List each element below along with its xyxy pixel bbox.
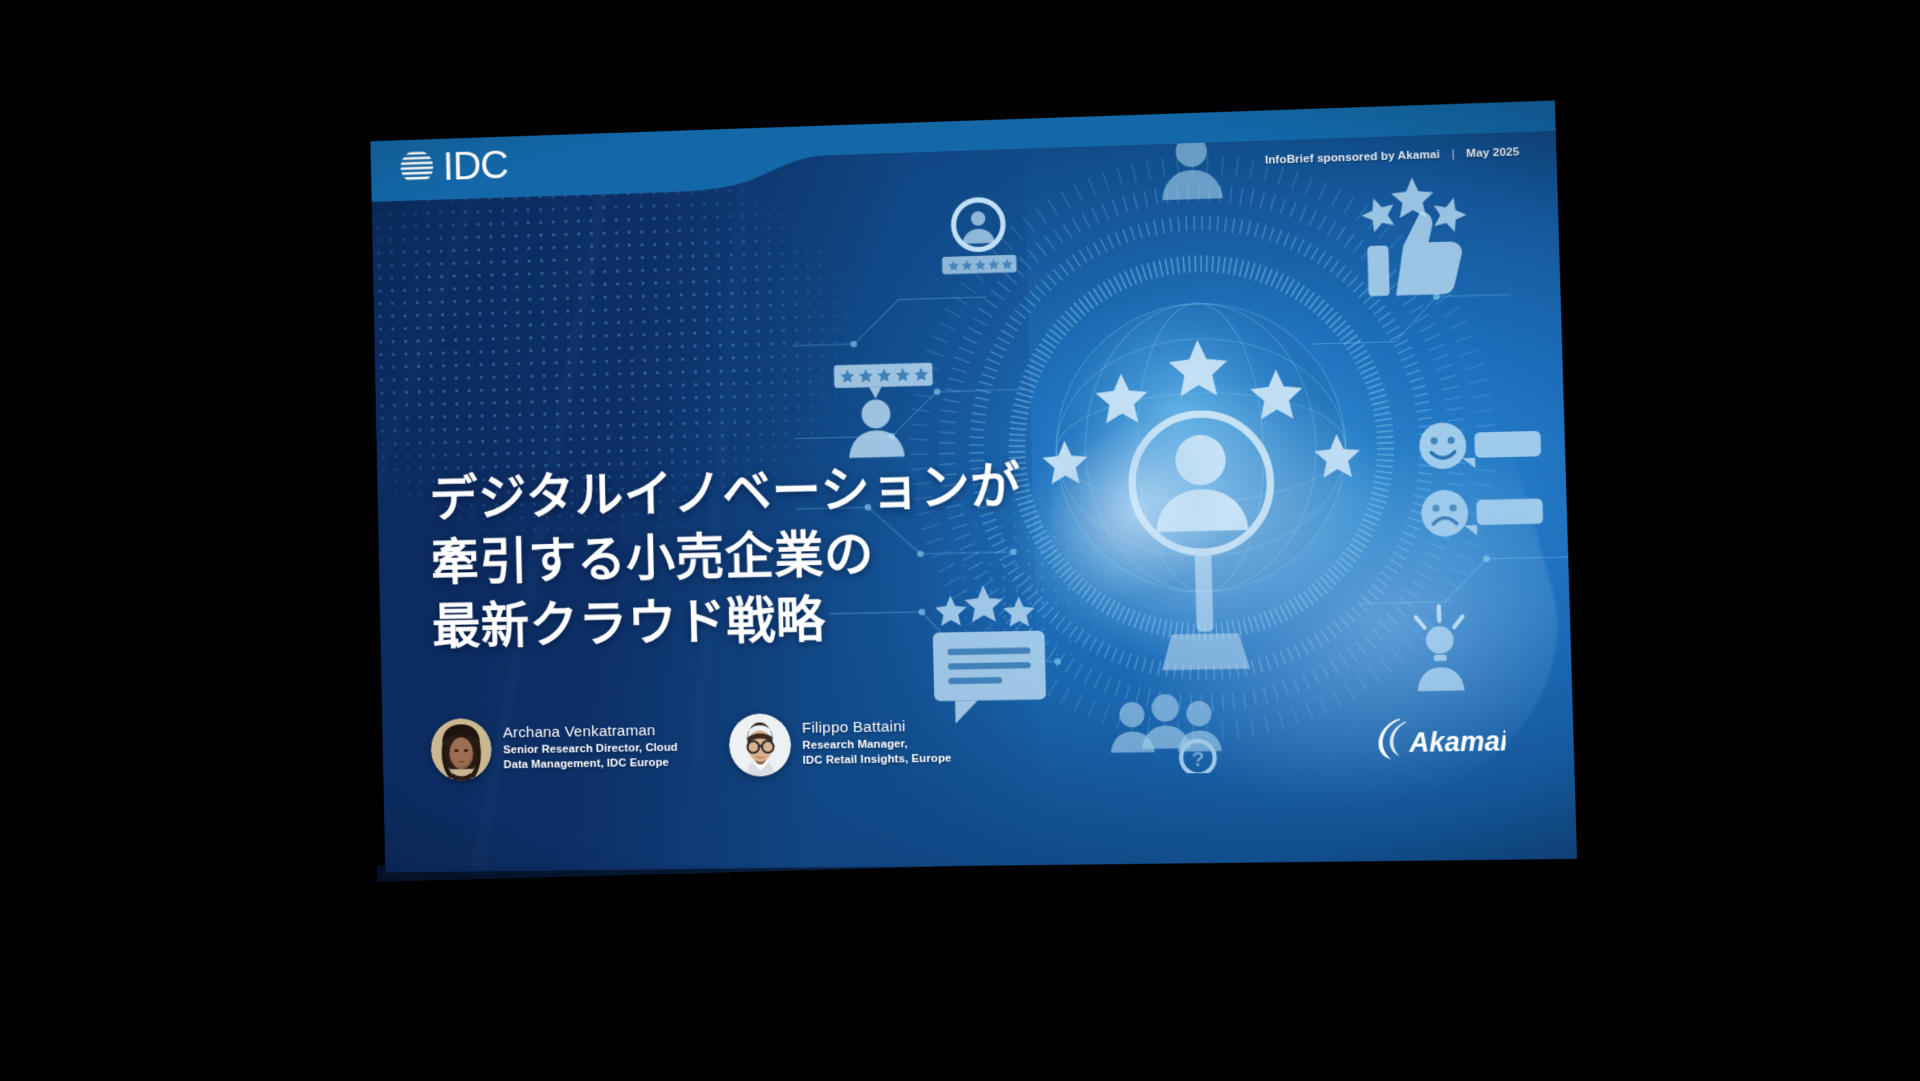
title-line-3: 最新クラウド戦略 <box>432 582 1091 659</box>
sponsor-separator: | <box>1451 148 1455 160</box>
author-text: Archana Venkatraman Senior Research Dire… <box>503 721 679 773</box>
author-text: Filippo Battaini Research Manager, IDC R… <box>802 717 952 769</box>
author-entry: Filippo Battaini Research Manager, IDC R… <box>728 710 952 776</box>
akamai-logo: Akamai <box>1377 713 1506 762</box>
sponsor-line: InfoBrief sponsored by Akamai | May 2025 <box>1265 146 1520 166</box>
title-line-2: 牽引する小売企業の <box>430 517 1089 596</box>
author-role-line-2: Data Management, IDC Europe <box>503 756 678 774</box>
author-name: Filippo Battaini <box>802 717 951 739</box>
avatar <box>728 713 791 777</box>
publication-date: May 2025 <box>1466 146 1520 160</box>
screenshot-stage: ? (function(){ // radiating tick rings, … <box>0 0 1920 1081</box>
author-list: Archana Venkatraman Senior Research Dire… <box>430 710 952 781</box>
sponsor-text: InfoBrief sponsored by Akamai <box>1265 149 1440 167</box>
page-surface: ? (function(){ // radiating tick rings, … <box>370 100 1577 872</box>
svg-text:?: ? <box>1191 748 1204 771</box>
author-role-line-1: Research Manager, <box>802 736 951 754</box>
document-page[interactable]: ? (function(){ // radiating tick rings, … <box>370 100 1577 872</box>
author-role-line-2: IDC Retail Insights, Europe <box>803 752 952 770</box>
author-entry: Archana Venkatraman Senior Research Dire… <box>430 715 678 781</box>
author-name: Archana Venkatraman <box>503 721 678 743</box>
svg-text:Akamai: Akamai <box>1408 726 1506 758</box>
idc-logo: IDC <box>397 144 508 187</box>
hand-graphic <box>936 299 1577 872</box>
avatar <box>430 718 492 781</box>
idc-wordmark: IDC <box>442 144 508 185</box>
pointing-finger-graphic <box>991 364 1317 687</box>
idc-globe-icon <box>397 147 436 187</box>
customer-experience-graphic: ? (function(){ // radiating tick rings, … <box>787 115 1577 779</box>
perspective-layer: ? (function(){ // radiating tick rings, … <box>0 0 1920 1081</box>
page-title: デジタルイノベーションが 牽引する小売企業の 最新クラウド戦略 <box>429 452 1091 660</box>
